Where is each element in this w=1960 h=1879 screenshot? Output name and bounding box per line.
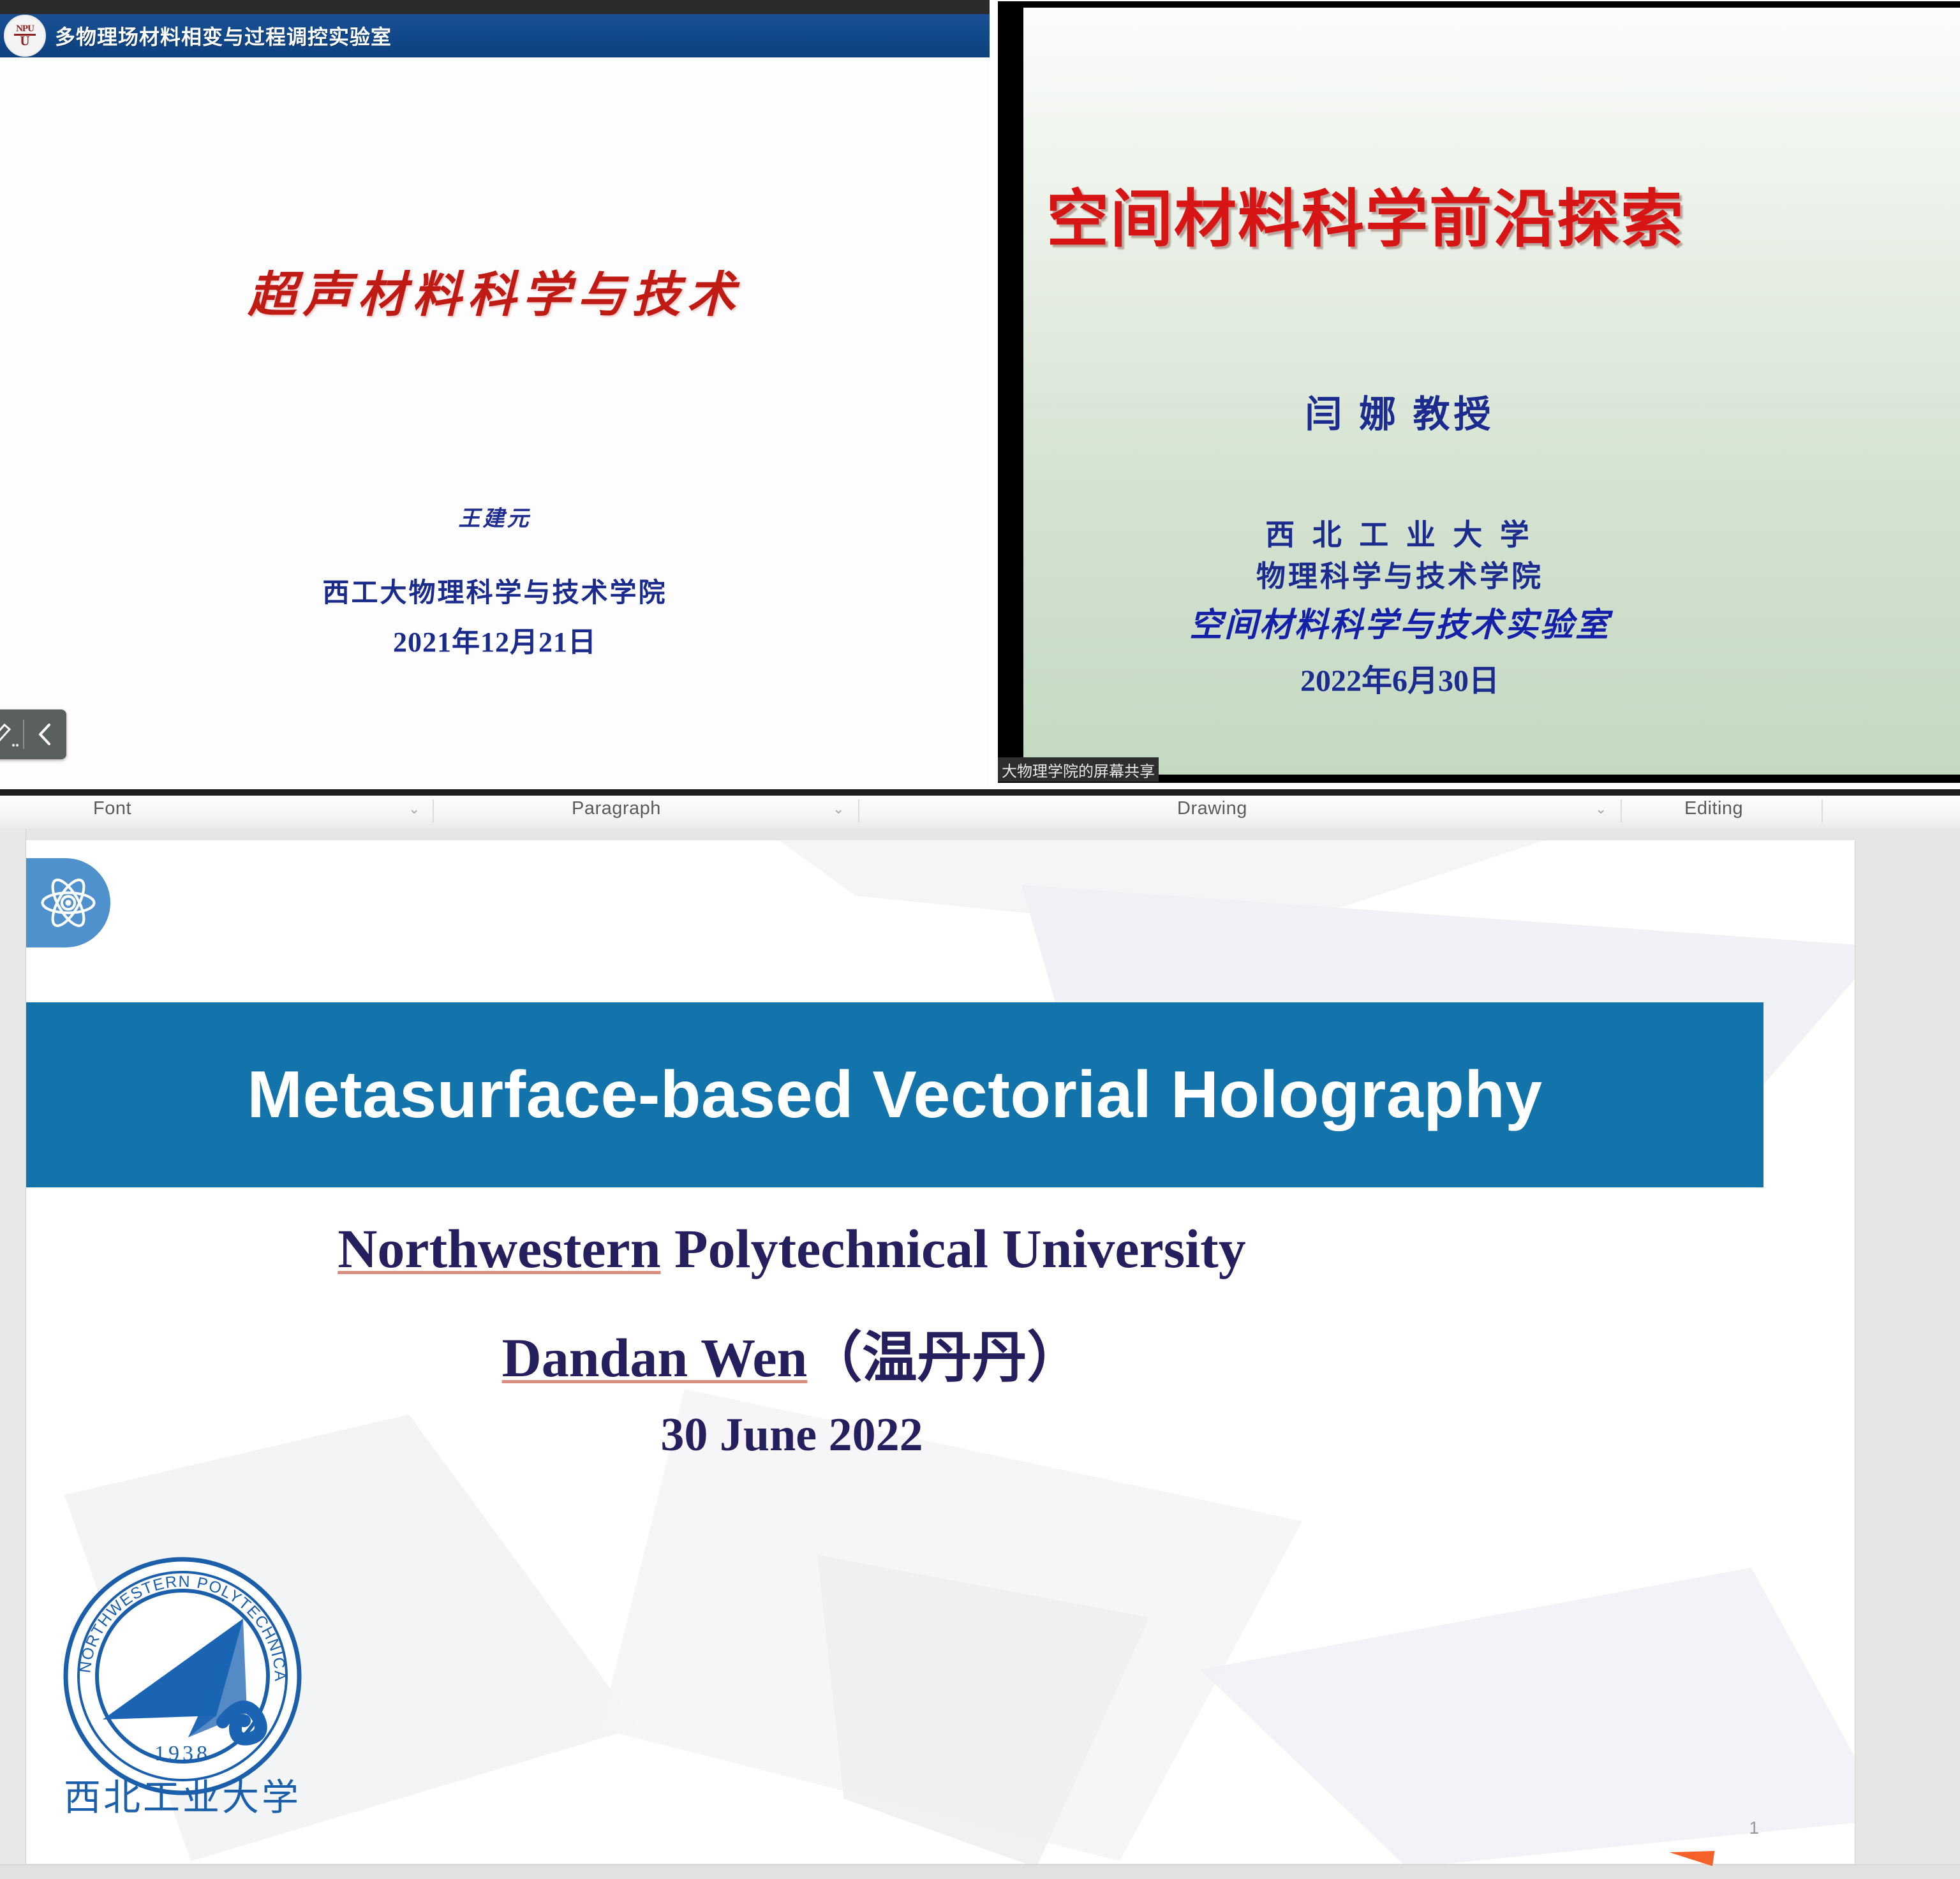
left-panel-top-strip [0, 0, 990, 14]
right-slide-affiliation-2: 物理科学与技术学院 [1023, 553, 1776, 595]
slide-page-number: 1 [1749, 1818, 1759, 1838]
ribbon-launcher-paragraph-icon[interactable]: ⌄ [833, 801, 845, 817]
slide-speaker-line: Dandan Wen（温丹丹） [26, 1312, 1557, 1392]
annotate-toolbar[interactable] [0, 709, 66, 759]
lab-logo-icon: NPU U [4, 15, 46, 57]
right-slide-speaker: 闫 娜 教授 [1023, 384, 1776, 438]
ribbon-separator-3 [1621, 799, 1622, 822]
left-slide-affiliation: 西工大物理科学与技术学院 [0, 571, 990, 610]
right-slide-date: 2022年6月30日 [1023, 655, 1776, 700]
ribbon-group-font: Font [93, 798, 131, 819]
slide-title: Metasurface-based Vectorial Holography [247, 1057, 1542, 1133]
right-shared-slide-panel[interactable]: 空间材料科学前沿探索 闫 娜 教授 西 北 工 业 大 学 物理科学与技术学院 … [998, 1, 1960, 783]
screen-root: NPU U 多物理场材料相变与过程调控实验室 超声材料科学与技术 王建元 西工大… [0, 0, 1960, 1879]
ribbon-divider [0, 789, 1960, 796]
ribbon-group-editing: Editing [1684, 798, 1743, 819]
slide-left-gutter [0, 829, 26, 1879]
ppt-ribbon-strip: Font ⌄ Paragraph ⌄ Drawing ⌄ Editing [0, 796, 1960, 830]
slide-date: 30 June 2022 [26, 1408, 1557, 1462]
collapse-chevron-icon[interactable] [24, 709, 65, 759]
atom-badge [26, 858, 110, 947]
slide-university-underlined-part: Northwestern [338, 1218, 660, 1279]
svg-text:1938: 1938 [154, 1742, 211, 1765]
slide-speaker-name-en: Dandan Wen [502, 1327, 808, 1388]
ribbon-group-drawing: Drawing [1177, 798, 1247, 819]
right-slide-affiliation-1: 西 北 工 业 大 学 [1023, 512, 1776, 554]
svg-text:西北工业大学: 西北工业大学 [64, 1777, 301, 1818]
lab-logo-top-text: NPU [16, 25, 34, 33]
annotate-pen-icon[interactable] [0, 709, 23, 759]
slide-canvas[interactable]: Metasurface-based Vectorial Holography N… [26, 840, 1855, 1864]
powerpoint-edit-area: Metasurface-based Vectorial Holography N… [0, 829, 1960, 1879]
left-slide-body: 超声材料科学与技术 王建元 西工大物理科学与技术学院 2021年12月21日 [0, 57, 990, 790]
lab-banner: NPU U 多物理场材料相变与过程调控实验室 [0, 14, 990, 57]
ribbon-launcher-font-icon[interactable]: ⌄ [408, 801, 420, 817]
left-slide-title: 超声材料科学与技术 [0, 255, 990, 325]
left-slide-date: 2021年12月21日 [0, 619, 990, 660]
slide-title-band: Metasurface-based Vectorial Holography [26, 1002, 1763, 1187]
shared-video-zone: NPU U 多物理场材料相变与过程调控实验室 超声材料科学与技术 王建元 西工大… [0, 0, 1960, 794]
atom-icon [39, 873, 98, 932]
slide-speaker-name-cn: （温丹丹） [807, 1327, 1081, 1388]
slide-university-rest: Polytechnical University [661, 1218, 1246, 1279]
ppt-status-bar [0, 1864, 1960, 1879]
right-slide-body: 空间材料科学前沿探索 闫 娜 教授 西 北 工 业 大 学 物理科学与技术学院 … [1023, 8, 1960, 775]
ribbon-group-paragraph: Paragraph [572, 798, 661, 819]
left-shared-slide-panel[interactable]: NPU U 多物理场材料相变与过程调控实验室 超声材料科学与技术 王建元 西工大… [0, 0, 990, 790]
lab-logo-bottom-text: U [20, 35, 29, 47]
ribbon-separator-1 [433, 799, 434, 822]
right-slide-lab: 空间材料科学与技术实验室 [1023, 598, 1776, 646]
ribbon-separator-2 [858, 799, 859, 822]
lab-banner-title: 多物理场材料相变与过程调控实验室 [55, 21, 392, 50]
right-slide-title: 空间材料科学前沿探索 [1046, 168, 1960, 259]
slide-university-line: Northwestern Polytechnical University [26, 1217, 1557, 1281]
left-slide-author: 王建元 [0, 501, 990, 532]
screen-share-badge: 大物理学院的屏幕共享 [998, 757, 1159, 782]
ribbon-launcher-drawing-icon[interactable]: ⌄ [1595, 801, 1607, 817]
ribbon-separator-4 [1822, 799, 1823, 822]
npu-logo: NORTHWESTERN POLYTECHNICAL UNIVERSITY 19… [52, 1549, 320, 1823]
